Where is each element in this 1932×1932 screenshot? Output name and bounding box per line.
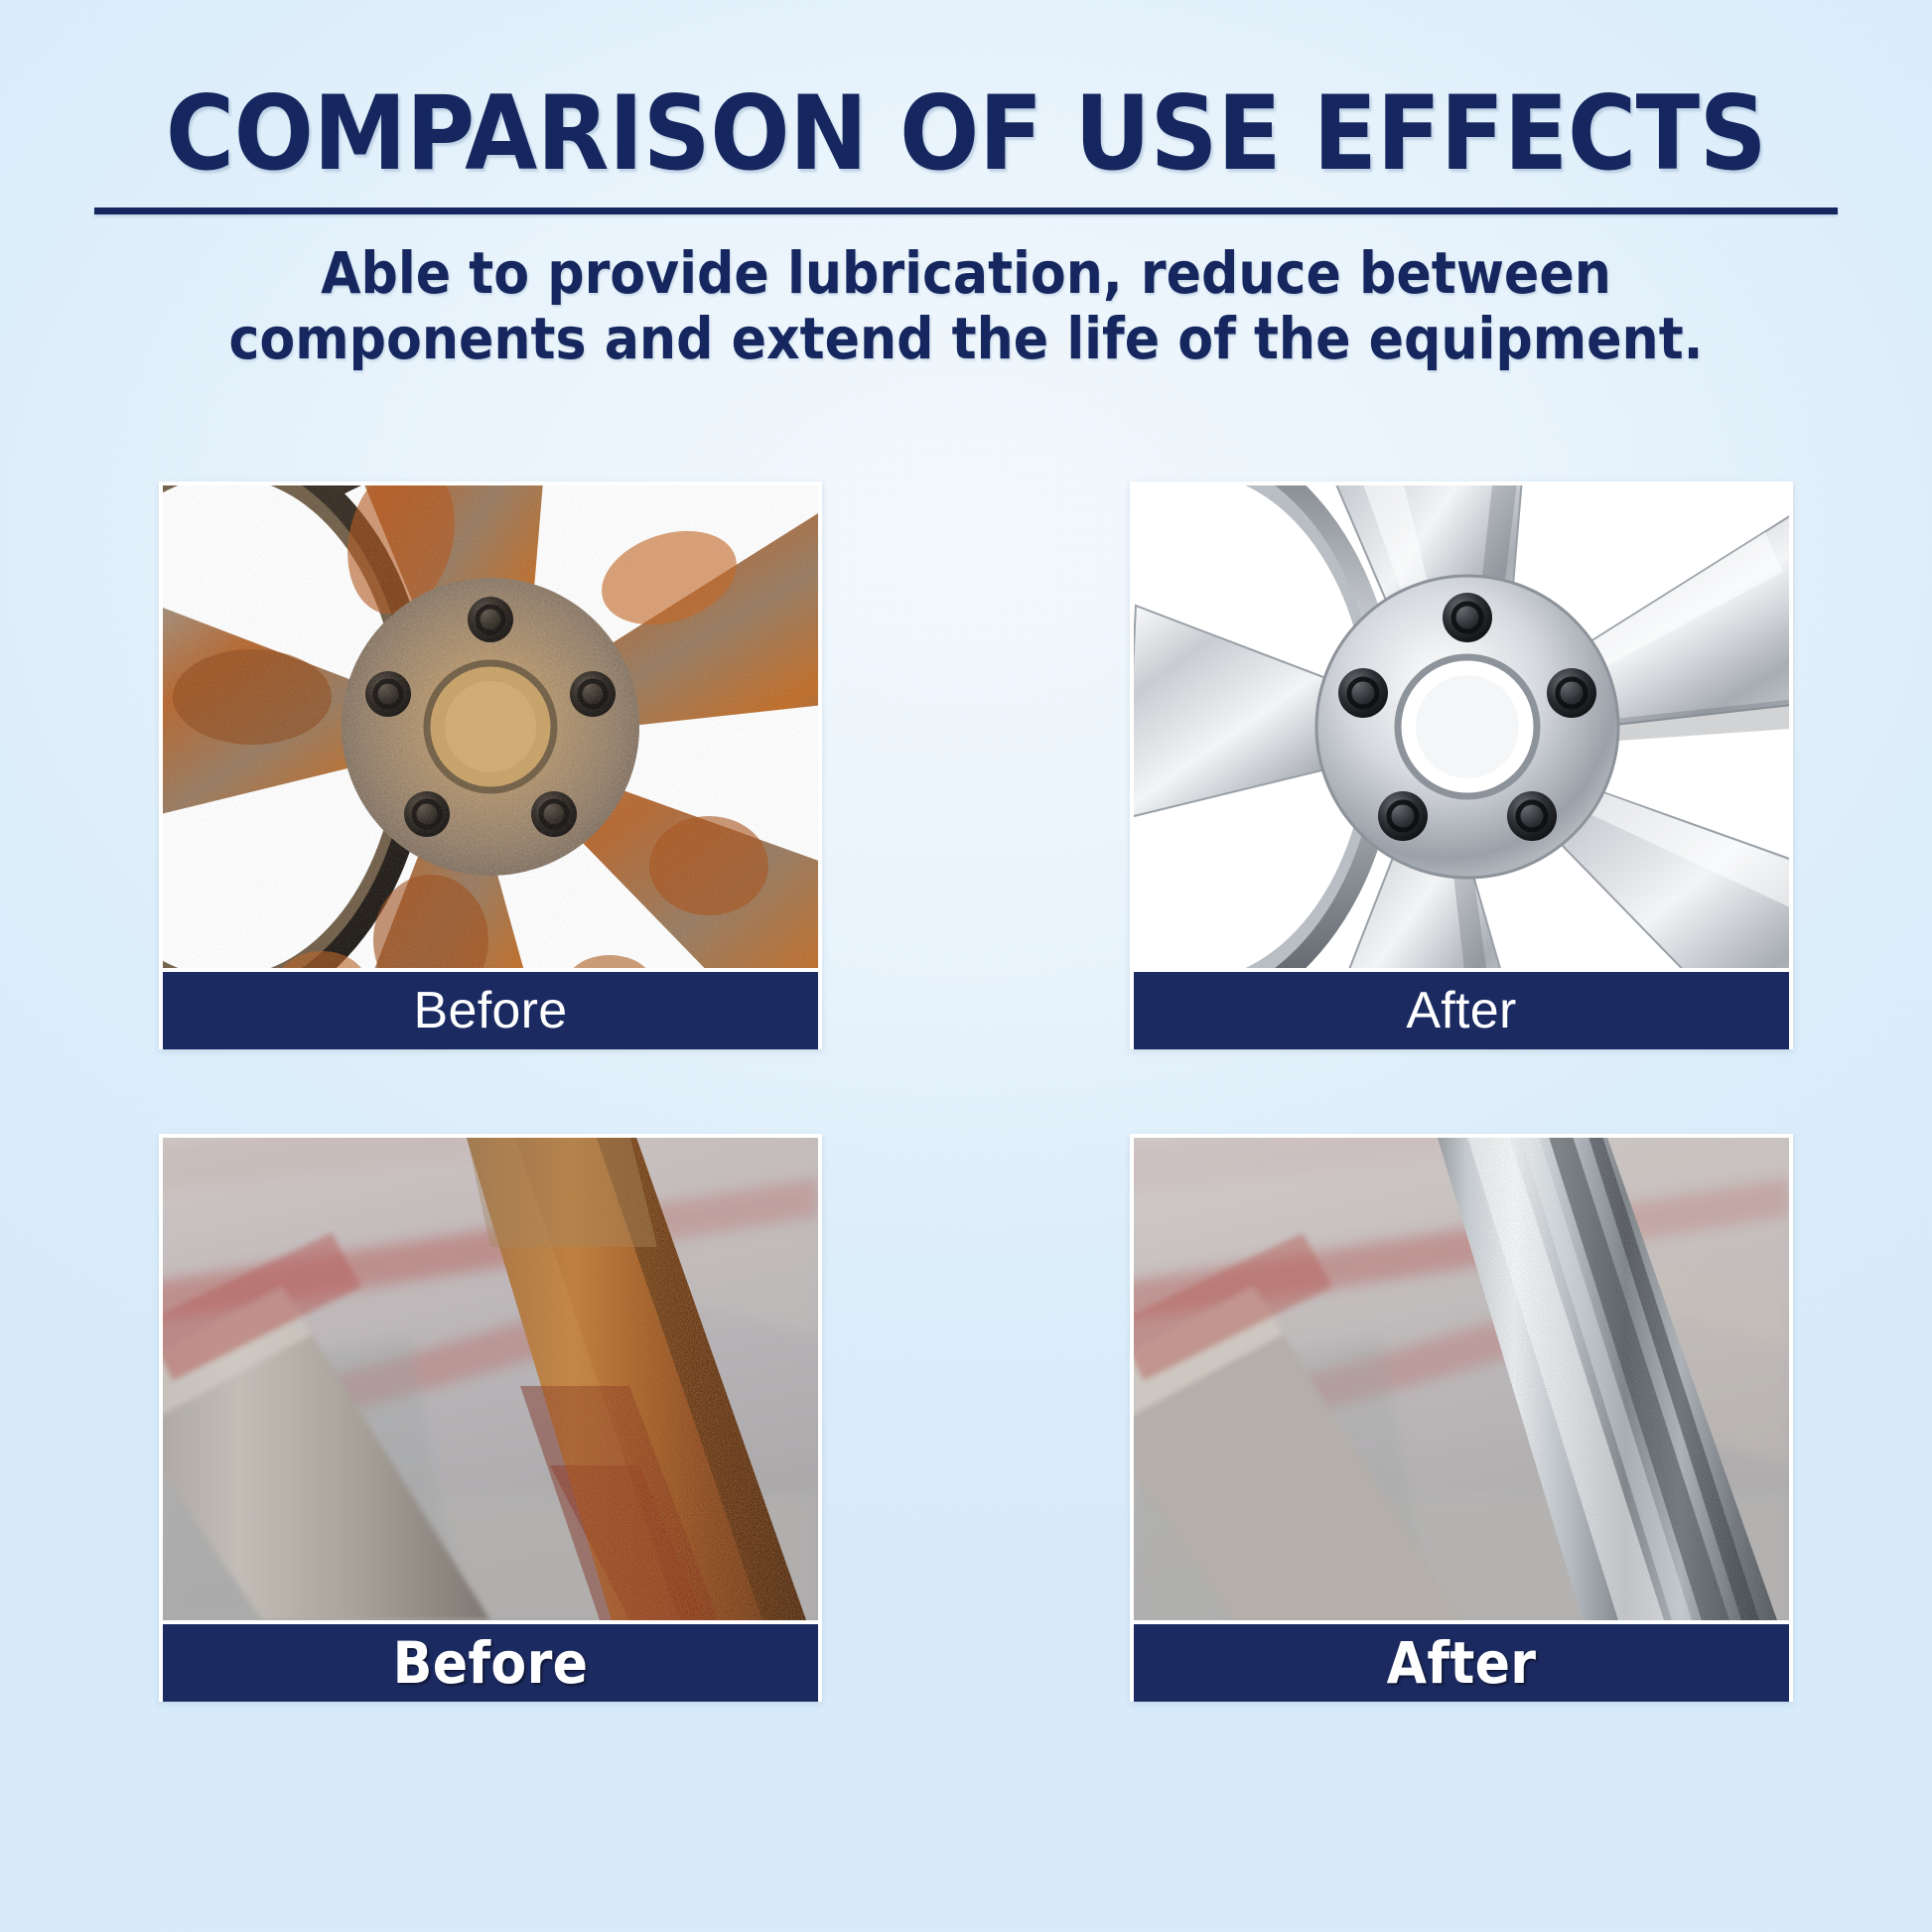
card-label-text: After bbox=[1406, 985, 1516, 1036]
card-label-after: After bbox=[1134, 972, 1789, 1049]
comparison-card-before-wheel[interactable]: Before bbox=[159, 482, 822, 1049]
comparison-card-after-wheel[interactable]: After bbox=[1130, 482, 1793, 1049]
card-label-text: After bbox=[1387, 1634, 1537, 1692]
card-label-before: Before bbox=[163, 1624, 818, 1702]
photo-clean-metal-pole bbox=[1134, 1138, 1789, 1620]
comparison-card-before-pole[interactable]: Before bbox=[159, 1134, 822, 1702]
card-label-before: Before bbox=[163, 972, 818, 1049]
card-label-text: Before bbox=[393, 1634, 589, 1692]
photo-rusty-alloy-wheel bbox=[163, 485, 818, 968]
header: COMPARISON OF USE EFFECTS Able to provid… bbox=[0, 0, 1932, 371]
title-divider bbox=[94, 207, 1838, 214]
card-label-after: After bbox=[1134, 1624, 1789, 1702]
card-label-text: Before bbox=[413, 985, 567, 1036]
photo-clean-alloy-wheel bbox=[1134, 485, 1789, 968]
comparison-card-after-pole[interactable]: After bbox=[1130, 1134, 1793, 1702]
comparison-row-metal-pole: Before bbox=[159, 1134, 1793, 1702]
page-title: COMPARISON OF USE EFFECTS bbox=[0, 83, 1932, 186]
page-subtitle: Able to provide lubrication, reduce betw… bbox=[0, 240, 1932, 371]
photo-rusty-metal-pole bbox=[163, 1138, 818, 1620]
comparison-grid: Before bbox=[159, 482, 1793, 1702]
comparison-row-wheel-rim: Before bbox=[159, 482, 1793, 1049]
